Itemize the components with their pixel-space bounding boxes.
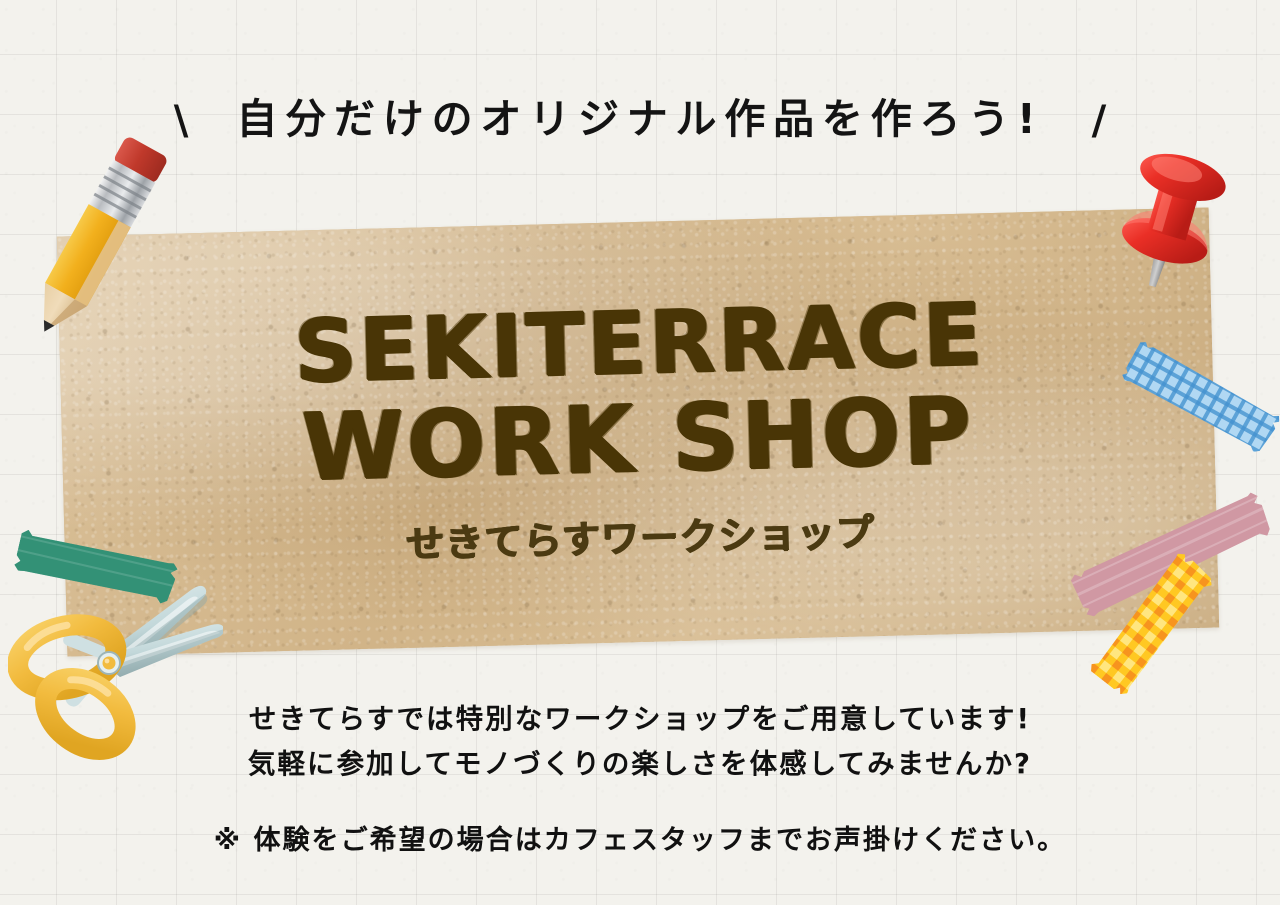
kraft-fiber-texture	[57, 207, 1219, 656]
kraft-paper-panel	[57, 207, 1219, 656]
headline-slash-left: \	[174, 101, 189, 141]
headline-text: 自分だけのオリジナル作品を作ろう!	[210, 99, 1069, 140]
headline: \ 自分だけのオリジナル作品を作ろう! /	[0, 99, 1280, 141]
note-text: ※ 体験をご希望の場合はカフェスタッフまでお声掛けください。	[0, 818, 1280, 857]
body-copy: せきてらすでは特別なワークショップをご用意しています! 気軽に参加してモノづくり…	[0, 697, 1280, 786]
body-copy-line-1: せきてらすでは特別なワークショップをご用意しています!	[0, 697, 1280, 742]
body-copy-line-2: 気軽に参加してモノづくりの楽しさを体感してみませんか?	[0, 742, 1280, 787]
kraft-speckle-texture	[57, 207, 1219, 656]
headline-slash-right: /	[1092, 101, 1107, 141]
